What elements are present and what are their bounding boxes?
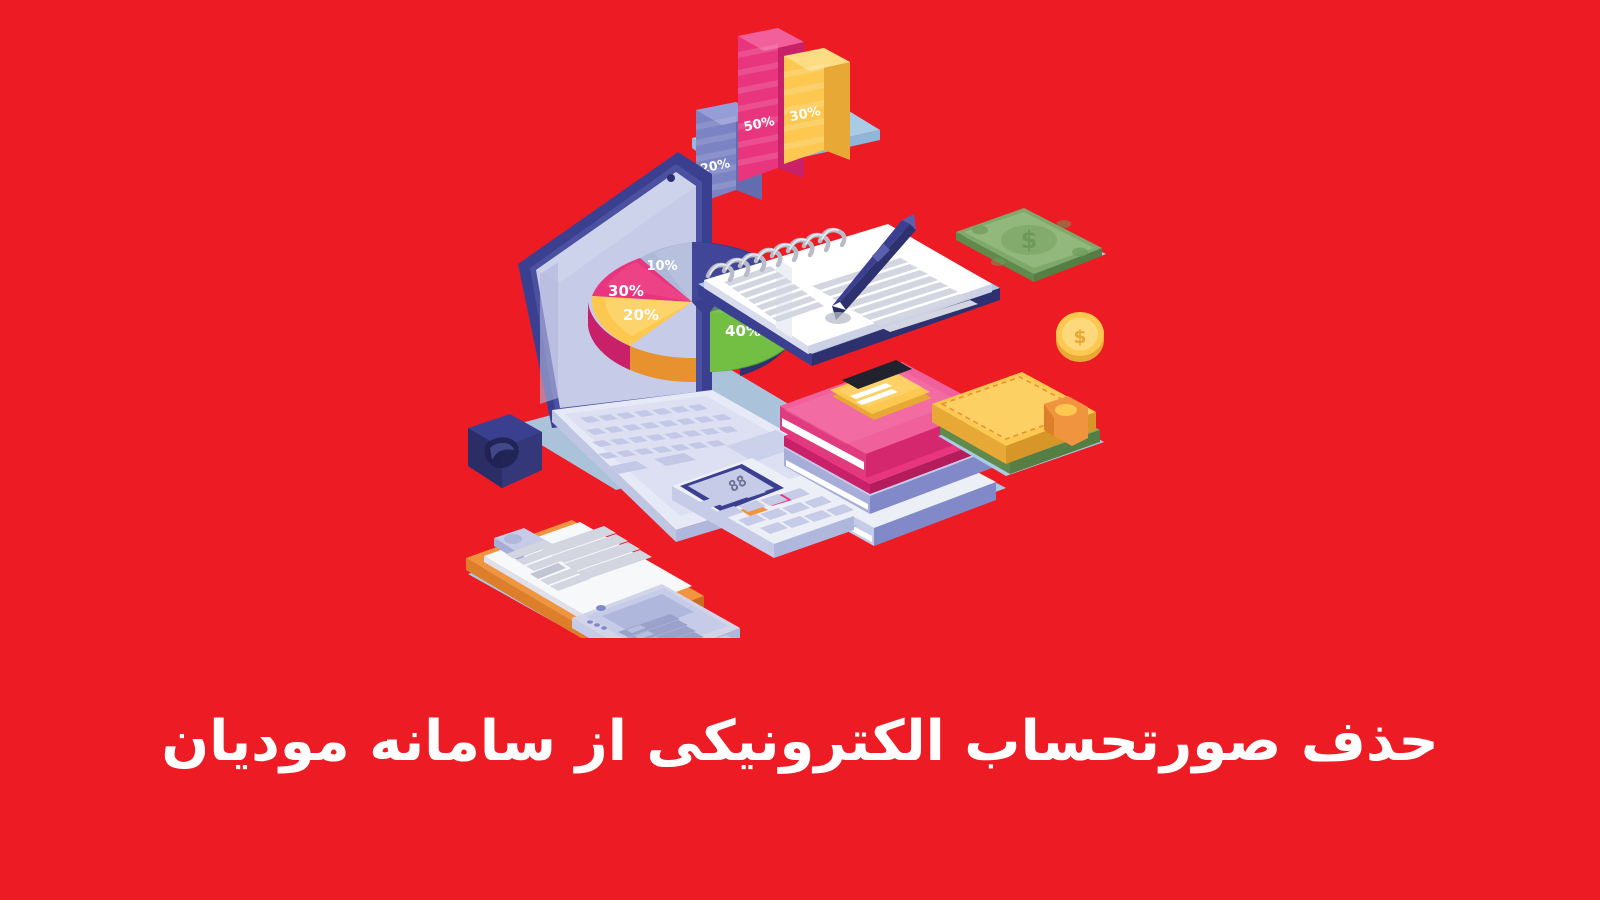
pie-label-10: 10% bbox=[646, 259, 677, 274]
bill-dollar-sign: $ bbox=[1021, 226, 1038, 254]
pie-label-20: 20% bbox=[623, 306, 659, 324]
dollar-bill: $ bbox=[956, 208, 1106, 282]
page-title: حذف صورتحساب الکترونیکی از سامانه مودیان bbox=[0, 710, 1600, 774]
coin-dollar-sign: $ bbox=[1073, 326, 1086, 348]
pie-label-30: 30% bbox=[608, 282, 644, 300]
finance-illustration: 20% 50% bbox=[440, 18, 1120, 638]
coin: $ bbox=[1056, 312, 1104, 362]
bar-chart: 20% 50% bbox=[692, 28, 880, 204]
poster-canvas: 20% 50% bbox=[0, 0, 1600, 900]
bar-chart-bar-3: 30% bbox=[784, 48, 850, 164]
